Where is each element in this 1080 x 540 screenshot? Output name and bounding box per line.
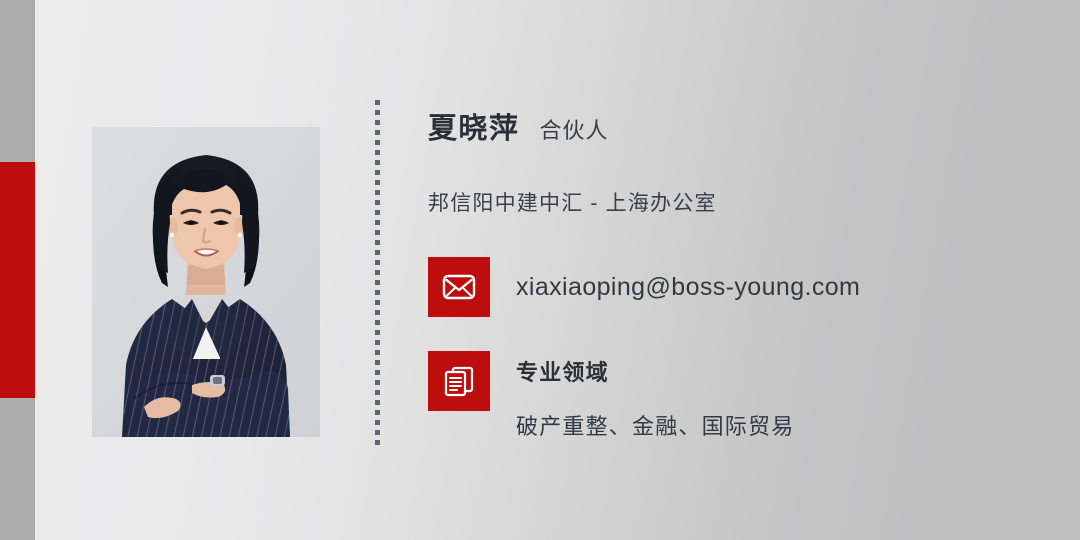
contact-details: 夏晓萍 合伙人 邦信阳中建中汇 - 上海办公室 xiaxiaoping@boss…	[428, 105, 1028, 441]
practice-areas-row: 专业领域 破产重整、金融、国际贸易	[428, 351, 1028, 441]
firm-office: 邦信阳中建中汇 - 上海办公室	[428, 187, 1028, 217]
person-title: 合伙人	[540, 113, 609, 145]
dotted-divider	[375, 100, 380, 450]
envelope-icon	[428, 257, 490, 317]
person-name: 夏晓萍	[428, 105, 520, 147]
accent-bar-gray-bottom	[0, 398, 35, 540]
business-card: 夏晓萍 合伙人 邦信阳中建中汇 - 上海办公室 xiaxiaoping@boss…	[0, 0, 1080, 540]
portrait-photo	[92, 127, 320, 437]
documents-icon	[428, 351, 490, 411]
email-row[interactable]: xiaxiaoping@boss-young.com	[428, 257, 1028, 317]
email-text-wrap: xiaxiaoping@boss-young.com	[516, 257, 860, 317]
practice-areas-label: 专业领域	[516, 355, 794, 387]
name-row: 夏晓萍 合伙人	[428, 105, 1028, 153]
left-accent-bar	[0, 0, 35, 540]
accent-bar-gray-top	[0, 0, 35, 162]
practice-areas-value: 破产重整、金融、国际贸易	[516, 409, 794, 441]
accent-bar-red	[0, 162, 35, 398]
practice-text-wrap: 专业领域 破产重整、金融、国际贸易	[516, 351, 794, 441]
email-address[interactable]: xiaxiaoping@boss-young.com	[516, 273, 860, 302]
